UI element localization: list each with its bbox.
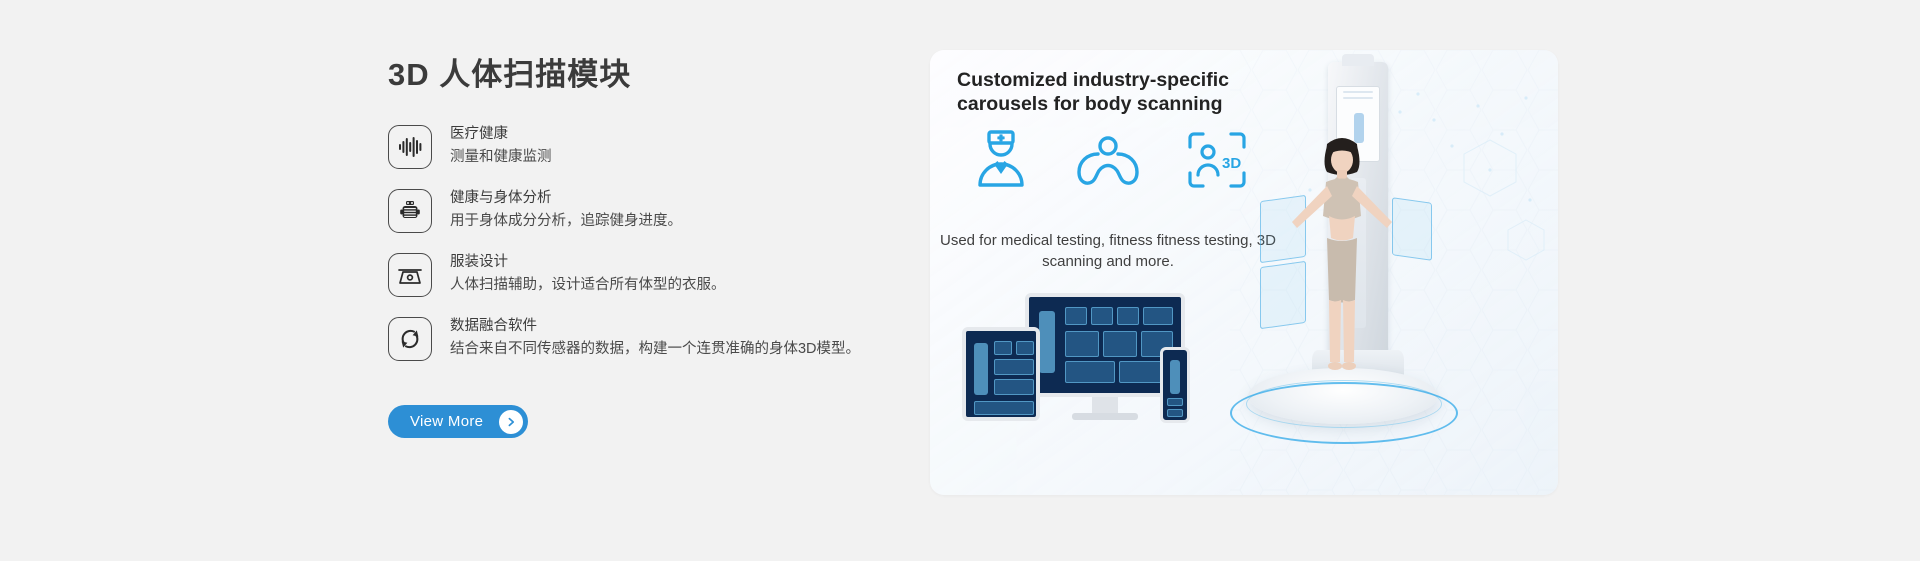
scanner-scene xyxy=(930,50,1558,495)
feature-item-health-body-analysis: 健康与身体分析 用于身体成分分析，追踪健身进度。 xyxy=(388,187,948,233)
feature-desc: 用于身体成分分析，追踪健身进度。 xyxy=(450,211,682,232)
feature-text: 医疗健康 测量和健康监测 xyxy=(450,123,552,168)
feature-item-data-fusion-software: 数据融合软件 结合来自不同传感器的数据，构建一个连贯准确的身体3D模型。 xyxy=(388,315,948,361)
feature-title: 服装设计 xyxy=(450,252,726,273)
feature-title: 数据融合软件 xyxy=(450,316,860,337)
waveform-icon xyxy=(388,125,432,169)
feature-title: 健康与身体分析 xyxy=(450,188,682,209)
feature-desc: 人体扫描辅助，设计适合所有体型的衣服。 xyxy=(450,275,726,296)
tablet-ui-grid xyxy=(966,331,1036,417)
promo-card: Customized industry-specific carousels f… xyxy=(930,50,1558,495)
view-more-label: View More xyxy=(410,413,483,430)
monitor-base xyxy=(1072,413,1138,420)
weighing-scale-icon xyxy=(388,253,432,297)
phone-display xyxy=(1160,347,1190,423)
body-composition-scale-icon xyxy=(388,189,432,233)
feature-desc: 测量和健康监测 xyxy=(450,147,552,168)
phone-ui-grid xyxy=(1163,350,1187,420)
data-sync-arrows-icon xyxy=(388,317,432,361)
monitor-ui-grid xyxy=(1029,297,1181,393)
chevron-right-icon xyxy=(499,410,523,434)
feature-title: 医疗健康 xyxy=(450,124,552,145)
feature-text: 服装设计 人体扫描辅助，设计适合所有体型的衣服。 xyxy=(450,251,726,296)
feature-list: 医疗健康 测量和健康监测 xyxy=(388,123,948,361)
feature-text: 数据融合软件 结合来自不同传感器的数据，构建一个连贯准确的身体3D模型。 xyxy=(450,315,860,360)
feature-desc: 结合来自不同传感器的数据，构建一个连贯准确的身体3D模型。 xyxy=(450,339,860,360)
feature-text: 健康与身体分析 用于身体成分分析，追踪健身进度。 xyxy=(450,187,682,232)
left-panel: 3D 人体扫描模块 xyxy=(388,56,948,438)
turntable-glow-ring xyxy=(1230,382,1458,444)
tablet-display xyxy=(962,327,1040,421)
pillar-cap xyxy=(1342,54,1374,66)
page-title: 3D 人体扫描模块 xyxy=(388,56,948,93)
feature-item-medical-health: 医疗健康 测量和健康监测 xyxy=(388,123,948,169)
view-more-button[interactable]: View More xyxy=(388,405,528,438)
page-root: 3D 人体扫描模块 xyxy=(0,0,1920,561)
feature-item-apparel-design: 服装设计 人体扫描辅助，设计适合所有体型的衣服。 xyxy=(388,251,948,297)
female-mannequin-figure xyxy=(1282,130,1402,380)
